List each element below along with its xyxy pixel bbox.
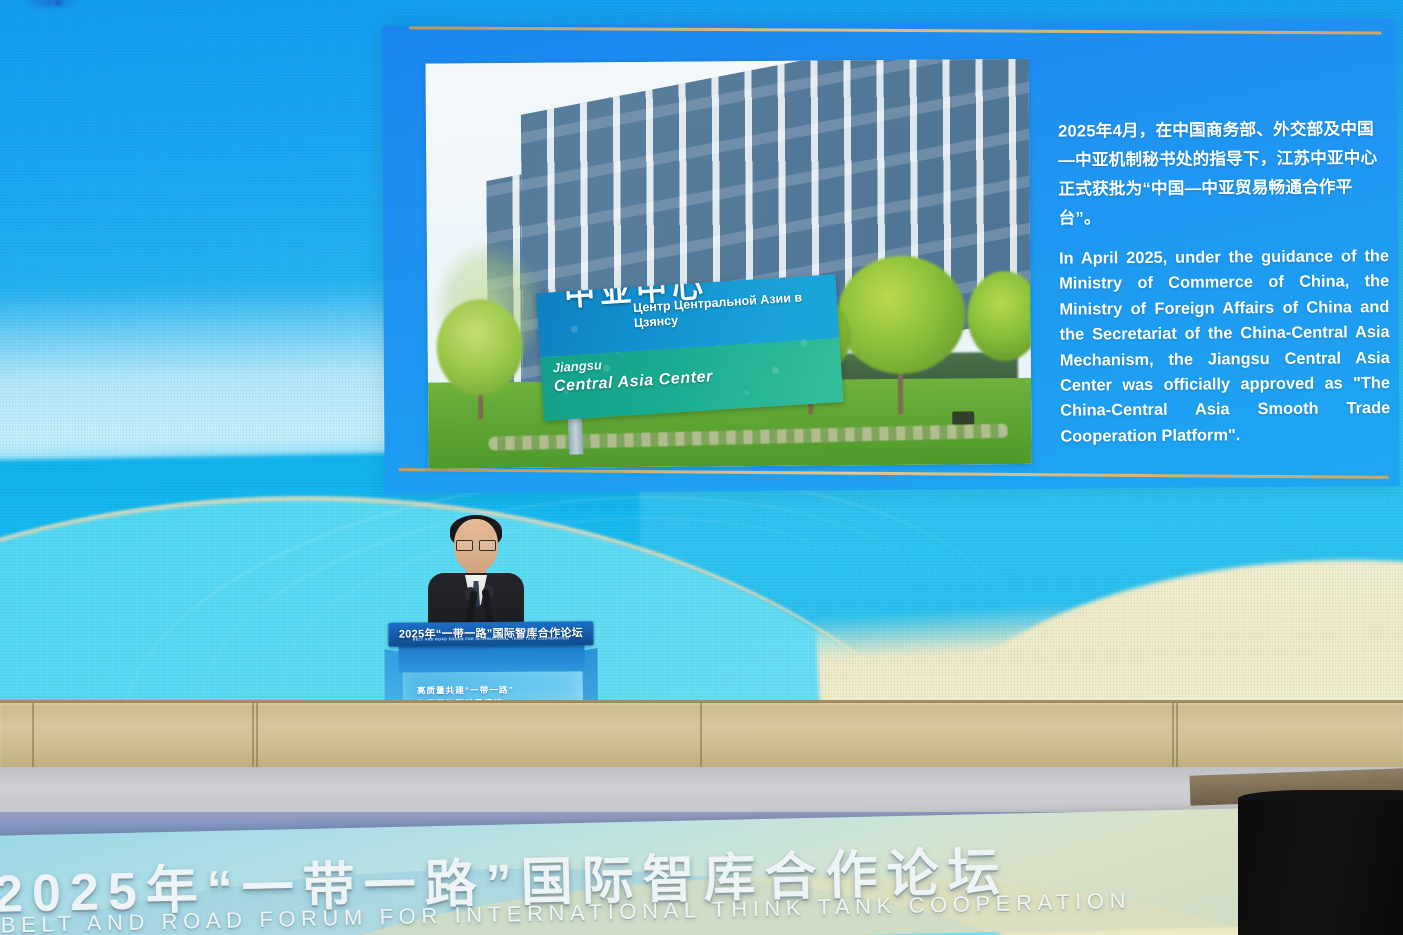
stage-wall-seam (1172, 703, 1174, 767)
stage-wall-seam (700, 703, 702, 767)
lectern-header-en: BELT AND ROAD FORUM FOR INTERNATIONAL TH… (388, 636, 593, 641)
stage-wall-seam (1176, 703, 1178, 767)
slide-gold-rule-bottom (399, 468, 1389, 479)
photo-tree (837, 255, 966, 374)
lectern-neck (398, 645, 584, 672)
signboard-english-line1: Jiangsu (552, 357, 602, 375)
slide-paragraph-chinese: 2025年4月，在中国商务部、外交部及中国—中亚机制秘书处的指导下，江苏中亚中心… (1058, 114, 1389, 233)
stage-wall (0, 703, 1403, 767)
photo-signboard: 中亚中心 Центр Центральной Азии в Цзянсу Jia… (536, 274, 844, 421)
stage-drape (1238, 800, 1403, 935)
top-left-artifact (22, 0, 78, 10)
stage-wall-seam (32, 703, 34, 767)
slide-paragraph-english: In April 2025, under the guidance of the… (1059, 244, 1391, 450)
slide-gold-rule-top (409, 26, 1381, 34)
photo-tree (436, 299, 523, 396)
stage-wall-seam (252, 703, 254, 767)
speaker-glasses (456, 540, 496, 549)
stage-wall-seam (256, 703, 258, 767)
slide-photo: 中亚中心 Центр Центральной Азии в Цзянсу Jia… (425, 59, 1031, 469)
lectern-slogan-cn-line1: 高质量共建“一带一路” (417, 684, 514, 697)
conference-stage-scene: 中亚中心 Центр Центральной Азии в Цзянсу Jia… (0, 0, 1403, 935)
lectern-header-bar: 2025年“一带一路”国际智库合作论坛 BELT AND ROAD FORUM … (388, 621, 593, 646)
photo-bench (952, 411, 974, 424)
presentation-slide: 中亚中心 Центр Центральной Азии в Цзянсу Jia… (381, 18, 1400, 494)
slide-text-column: 2025年4月，在中国商务部、外交部及中国—中亚机制秘书处的指导下，江苏中亚中心… (1058, 114, 1391, 450)
